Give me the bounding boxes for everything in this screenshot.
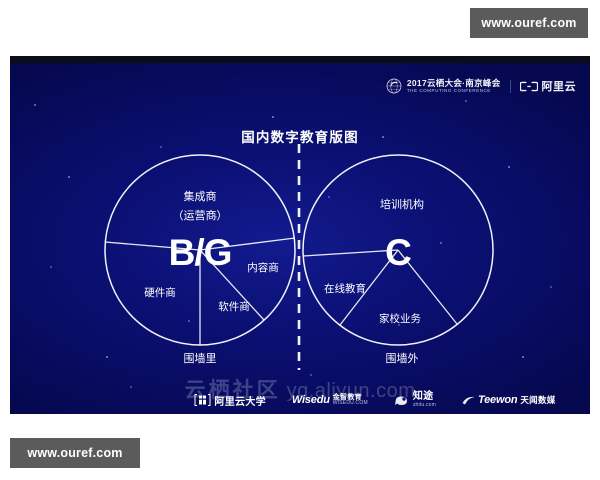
watermark-bottom-left: www.ouref.com (10, 438, 140, 468)
zhitu-icon (394, 393, 410, 407)
logo-aliyun-university-label: 阿里云大学 (214, 393, 266, 408)
footer-logo-bar: 阿里云大学 Wisedu 金智教育 WISEDU.COM 知途 zhitu.co… (10, 392, 590, 408)
left-segment-label-integrator-line1: 集成商 (184, 189, 217, 203)
logo-teewon: Teewon 天闻数媒 (462, 394, 556, 406)
left-circle-group: 集成商 （运营商） B/G 内容商 软件商 硬件商 围墙里 (105, 155, 295, 365)
logo-wisedu-sub: WISEDU.COM (333, 401, 368, 406)
right-spoke-online-edu (303, 250, 398, 256)
right-circle-center-label: C (385, 232, 411, 273)
right-wall-label: 围墙外 (386, 351, 419, 365)
left-segment-label-content: 内容商 (247, 261, 279, 274)
left-segment-label-software: 软件商 (218, 300, 250, 313)
teewon-swoosh-icon (462, 395, 475, 406)
logo-wisedu-latin: Wisedu (292, 394, 330, 406)
logo-teewon-latin: Teewon (478, 394, 517, 406)
venn-diagram: 集成商 （运营商） B/G 内容商 软件商 硬件商 围墙里 培训机构 C 在线教… (10, 56, 590, 414)
left-circle-center-label: B/G (169, 232, 232, 273)
right-segment-label-home-school: 家校业务 (379, 312, 421, 325)
watermark-top-right: www.ouref.com (470, 8, 588, 38)
slide-canvas: 2017云栖大会·南京峰会 THE COMPUTING CONFERENCE 阿… (10, 56, 590, 414)
logo-zhitu-sub: zhitu.com (413, 403, 436, 408)
right-segment-label-online-education: 在线教育 (324, 282, 366, 295)
logo-zhitu: 知途 zhitu.com (394, 392, 436, 408)
right-segment-label-training: 培训机构 (380, 197, 424, 211)
right-circle-group: 培训机构 C 在线教育 家校业务 围墙外 (303, 155, 493, 365)
logo-wisedu: Wisedu 金智教育 WISEDU.COM (292, 394, 368, 407)
logo-aliyun-university: 阿里云大学 (194, 393, 266, 408)
logo-teewon-label: 天闻数媒 (520, 394, 555, 406)
left-segment-label-integrator-line2: （运营商） (173, 208, 228, 222)
aliyun-university-icon (194, 393, 211, 407)
left-wall-label: 围墙里 (184, 351, 217, 365)
left-segment-label-hardware: 硬件商 (144, 286, 176, 299)
